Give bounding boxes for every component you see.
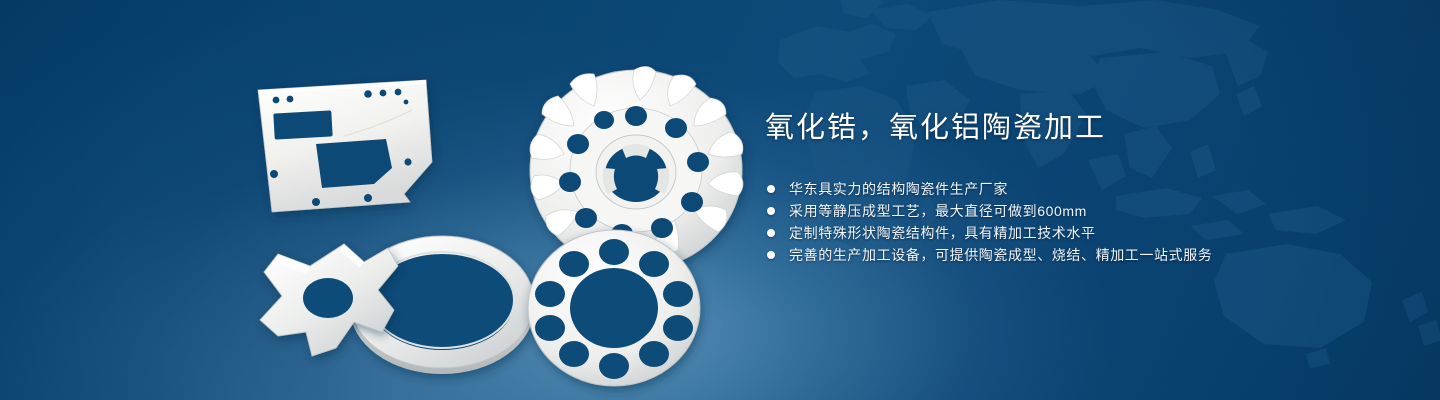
feature-item: 华东具实力的结构陶瓷件生产厂家	[767, 178, 1385, 200]
feature-text: 完善的生产加工设备，可提供陶瓷成型、烧结、精加工一站式服务	[789, 244, 1212, 266]
banner-headline: 氧化锆，氧化铝陶瓷加工	[765, 108, 1385, 148]
bullet-icon	[767, 207, 775, 215]
feature-text: 定制特殊形状陶瓷结构件，具有精加工技术水平	[789, 222, 1096, 244]
feature-list: 华东具实力的结构陶瓷件生产厂家 采用等静压成型工艺，最大直径可做到600mm 定…	[767, 178, 1385, 266]
feature-item: 定制特殊形状陶瓷结构件，具有精加工技术水平	[767, 222, 1385, 244]
hero-banner: 氧化锆，氧化铝陶瓷加工 华东具实力的结构陶瓷件生产厂家 采用等静压成型工艺，最大…	[0, 0, 1440, 400]
feature-item: 采用等静压成型工艺，最大直径可做到600mm	[767, 200, 1385, 222]
feature-text: 采用等静压成型工艺，最大直径可做到600mm	[789, 200, 1087, 222]
bullet-icon	[767, 229, 775, 237]
product-photo-collage	[236, 44, 736, 384]
ceramic-machined-plate	[258, 80, 432, 212]
feature-text: 华东具实力的结构陶瓷件生产厂家	[789, 178, 1008, 200]
feature-item: 完善的生产加工设备，可提供陶瓷成型、烧结、精加工一站式服务	[767, 244, 1385, 266]
banner-copy: 氧化锆，氧化铝陶瓷加工 华东具实力的结构陶瓷件生产厂家 采用等静压成型工艺，最大…	[765, 108, 1385, 266]
ceramic-perforated-disc	[528, 230, 700, 386]
bullet-icon	[767, 185, 775, 193]
bullet-icon	[767, 251, 775, 259]
